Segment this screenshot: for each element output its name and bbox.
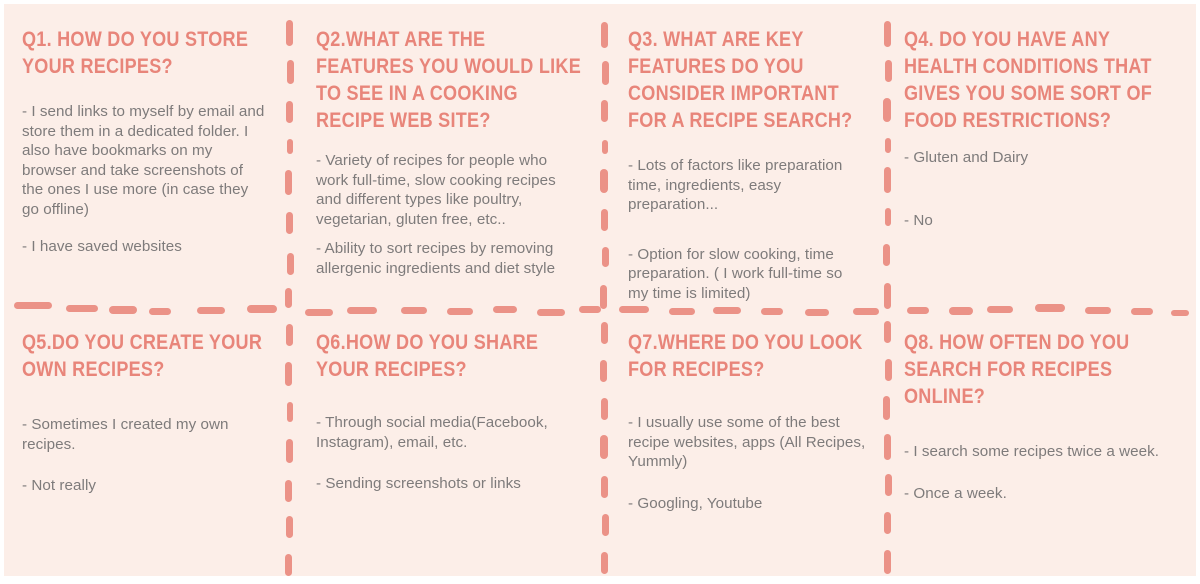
question-title-q7: Q7.WHERE DO YOU LOOK FOR RECIPES? <box>628 329 866 383</box>
answer-item: - Not really <box>22 476 266 496</box>
answer-item: - Through social media(Facebook, Instagr… <box>316 413 582 452</box>
question-cell-q4: Q4. DO YOU HAVE ANY HEALTH CONDITIONS TH… <box>888 4 1196 303</box>
answer-item: - I have saved websites <box>22 237 266 257</box>
answer-list-q3: - Lots of factors like preparation time,… <box>628 156 866 303</box>
question-title-q6: Q6.HOW DO YOU SHARE YOUR RECIPES? <box>316 329 582 383</box>
answer-item: - Sometimes I created my own recipes. <box>22 415 266 454</box>
question-cell-q2: Q2.WHAT ARE THE FEATURES YOU WOULD LIKE … <box>292 4 606 303</box>
question-cell-q8: Q8. HOW OFTEN DO YOU SEARCH FOR RECIPES … <box>888 303 1196 576</box>
question-title-q8: Q8. HOW OFTEN DO YOU SEARCH FOR RECIPES … <box>904 329 1176 410</box>
answer-item: - Ability to sort recipes by removing al… <box>316 239 582 278</box>
answer-item: - Googling, Youtube <box>628 494 866 514</box>
question-title-q4: Q4. DO YOU HAVE ANY HEALTH CONDITIONS TH… <box>904 26 1176 134</box>
question-cell-q1: Q1. HOW DO YOU STORE YOUR RECIPES? - I s… <box>4 4 292 303</box>
question-title-q2: Q2.WHAT ARE THE FEATURES YOU WOULD LIKE … <box>316 26 582 134</box>
question-cell-q7: Q7.WHERE DO YOU LOOK FOR RECIPES? - I us… <box>606 303 888 576</box>
question-cell-q3: Q3. WHAT ARE KEY FEATURES DO YOU CONSIDE… <box>606 4 888 303</box>
answer-item: - Variety of recipes for people who work… <box>316 151 582 229</box>
question-grid: Q1. HOW DO YOU STORE YOUR RECIPES? - I s… <box>4 4 1196 576</box>
answer-list-q4: - Gluten and Dairy - No <box>904 148 1176 230</box>
answer-item: - No <box>904 211 1176 231</box>
answer-item: - Gluten and Dairy <box>904 148 1176 168</box>
answer-item: - I search some recipes twice a week. <box>904 442 1176 462</box>
question-title-q5: Q5.DO YOU CREATE YOUR OWN RECIPES? <box>22 329 266 383</box>
answer-item: - Lots of factors like preparation time,… <box>628 156 866 215</box>
answer-item: - I usually use some of the best recipe … <box>628 413 866 472</box>
answer-list-q8: - I search some recipes twice a week. - … <box>904 442 1176 503</box>
question-title-q1: Q1. HOW DO YOU STORE YOUR RECIPES? <box>22 26 266 80</box>
answer-list-q6: - Through social media(Facebook, Instagr… <box>316 413 582 494</box>
answer-list-q2: - Variety of recipes for people who work… <box>316 151 582 278</box>
answer-list-q7: - I usually use some of the best recipe … <box>628 413 866 513</box>
answer-list-q1: - I send links to myself by email and st… <box>22 102 266 257</box>
answer-item: - Once a week. <box>904 484 1176 504</box>
answer-item: - Sending screenshots or links <box>316 474 582 494</box>
answer-item: - Option for slow cooking, time preparat… <box>628 245 866 304</box>
question-title-q3: Q3. WHAT ARE KEY FEATURES DO YOU CONSIDE… <box>628 26 866 134</box>
answer-list-q5: - Sometimes I created my own recipes. - … <box>22 415 266 496</box>
question-cell-q6: Q6.HOW DO YOU SHARE YOUR RECIPES? - Thro… <box>292 303 606 576</box>
question-cell-q5: Q5.DO YOU CREATE YOUR OWN RECIPES? - Som… <box>4 303 292 576</box>
answer-item: - I send links to myself by email and st… <box>22 102 266 219</box>
questions-board: Q1. HOW DO YOU STORE YOUR RECIPES? - I s… <box>4 4 1196 576</box>
